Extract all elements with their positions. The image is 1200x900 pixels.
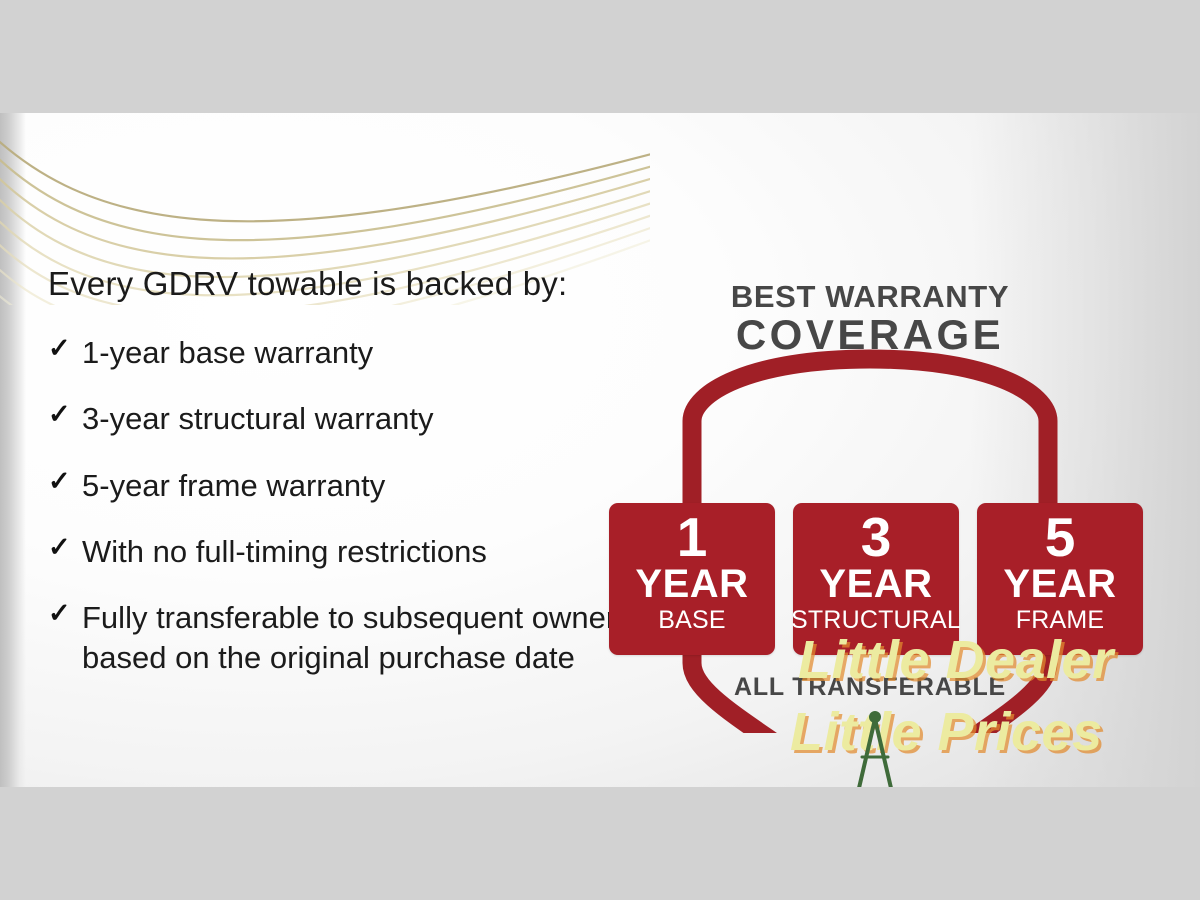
warranty-copy-block: Every GDRV towable is backed by: ✓ 1-yea… bbox=[48, 265, 668, 704]
warranty-box-label: STRUCTURAL bbox=[791, 605, 961, 636]
warranty-box-unit: YEAR bbox=[819, 565, 932, 603]
list-item-label: 5-year frame warranty bbox=[82, 466, 385, 505]
list-item: ✓ 3-year structural warranty bbox=[48, 399, 668, 438]
warranty-box-number: 5 bbox=[1045, 509, 1076, 565]
list-item: ✓ With no full-timing restrictions bbox=[48, 532, 668, 571]
list-item: ✓ 5-year frame warranty bbox=[48, 466, 668, 505]
list-item: ✓ Fully transferable to subsequent owner… bbox=[48, 598, 668, 677]
badge-footer-text: ALL TRANSFERABLE bbox=[600, 673, 1140, 702]
shield-icon bbox=[600, 233, 1140, 733]
check-icon: ✓ bbox=[48, 532, 82, 562]
list-item-label: 3-year structural warranty bbox=[82, 399, 433, 438]
screenshot-canvas: Every GDRV towable is backed by: ✓ 1-yea… bbox=[0, 0, 1200, 900]
list-item-label: 1-year base warranty bbox=[82, 333, 373, 372]
check-icon: ✓ bbox=[48, 466, 82, 496]
warranty-box-base[interactable]: 1 YEAR BASE bbox=[609, 503, 775, 655]
page-title: Every GDRV towable is backed by: bbox=[48, 265, 668, 303]
warranty-box-structural[interactable]: 3 YEAR STRUCTURAL bbox=[793, 503, 959, 655]
check-icon: ✓ bbox=[48, 399, 82, 429]
list-item-label: Fully transferable to subsequent owners … bbox=[82, 598, 668, 677]
slide-content: Every GDRV towable is backed by: ✓ 1-yea… bbox=[0, 113, 1200, 787]
list-item: ✓ 1-year base warranty bbox=[48, 333, 668, 372]
check-icon: ✓ bbox=[48, 333, 82, 363]
warranty-term-boxes: 1 YEAR BASE 3 YEAR STRUCTURAL 5 YEAR FRA… bbox=[609, 503, 1161, 655]
warranty-box-unit: YEAR bbox=[635, 565, 748, 603]
warranty-box-number: 3 bbox=[861, 509, 892, 565]
warranty-box-frame[interactable]: 5 YEAR FRAME bbox=[977, 503, 1143, 655]
warranty-bullet-list: ✓ 1-year base warranty ✓ 3-year structur… bbox=[48, 333, 668, 677]
list-item-label: With no full-timing restrictions bbox=[82, 532, 487, 571]
warranty-box-label: BASE bbox=[658, 605, 726, 636]
warranty-box-unit: YEAR bbox=[1003, 565, 1116, 603]
warranty-shield-badge: BEST WARRANTY COVERAGE 1 YEAR BASE 3 YEA… bbox=[600, 233, 1140, 733]
warranty-box-label: FRAME bbox=[1016, 605, 1105, 636]
check-icon: ✓ bbox=[48, 598, 82, 628]
warranty-box-number: 1 bbox=[677, 509, 708, 565]
